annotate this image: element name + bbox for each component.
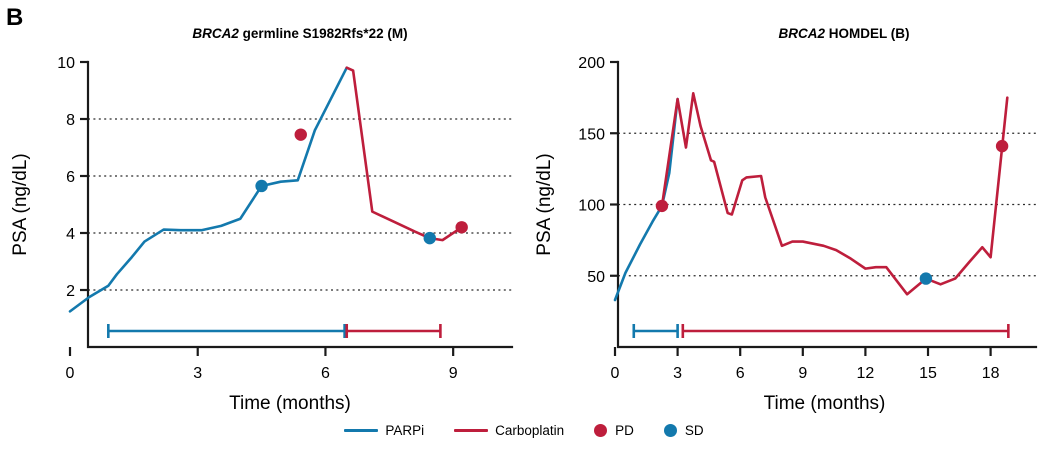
series-line-carboplatin bbox=[662, 93, 1007, 294]
x-tick-label: 6 bbox=[736, 365, 745, 382]
x-tick-label: 0 bbox=[66, 365, 75, 382]
marker-sd bbox=[424, 232, 436, 244]
y-tick-label: 200 bbox=[578, 55, 605, 72]
chart-title: BRCA2 germline S1982Rfs*22 (M) bbox=[192, 26, 407, 41]
y-axis-title: PSA (ng/dL) bbox=[534, 153, 555, 255]
x-tick-label: 18 bbox=[982, 365, 1000, 382]
legend-item-sd: SD bbox=[664, 424, 704, 438]
y-axis-title: PSA (ng/dL) bbox=[10, 153, 31, 255]
chart-brca2-homdel: BRCA2 HOMDEL (B)501001502000369121518Tim… bbox=[524, 0, 1048, 415]
y-tick-label: 50 bbox=[587, 269, 605, 286]
chart-svg-right: BRCA2 HOMDEL (B)501001502000369121518Tim… bbox=[524, 0, 1048, 415]
series-line-parpi bbox=[70, 68, 347, 312]
y-tick-label: 10 bbox=[57, 55, 75, 72]
x-tick-label: 3 bbox=[193, 365, 202, 382]
y-tick-label: 4 bbox=[66, 226, 75, 243]
x-tick-label: 3 bbox=[673, 365, 682, 382]
circle-marker-icon bbox=[594, 424, 607, 437]
marker-pd bbox=[295, 128, 307, 140]
line-swatch-icon bbox=[344, 429, 378, 432]
plot-axes bbox=[88, 62, 512, 347]
marker-sd bbox=[920, 272, 932, 284]
chart-svg-left: BRCA2 germline S1982Rfs*22 (M)2468100369… bbox=[0, 0, 524, 415]
legend-item-label: PD bbox=[615, 424, 634, 438]
x-axis-title: Time (months) bbox=[229, 393, 351, 414]
y-tick-label: 150 bbox=[578, 126, 605, 143]
legend-item-label: PARPi bbox=[385, 424, 424, 438]
legend-item-parpi: PARPi bbox=[344, 424, 424, 438]
chart-title-rest: germline S1982Rfs*22 (M) bbox=[239, 26, 408, 41]
legend-item-pd: PD bbox=[594, 424, 634, 438]
x-axis-title: Time (months) bbox=[764, 393, 886, 414]
x-tick-label: 15 bbox=[919, 365, 937, 382]
y-tick-label: 6 bbox=[66, 169, 75, 186]
chart-legend: PARPiCarboplatinPDSD bbox=[0, 424, 1048, 438]
legend-item-label: Carboplatin bbox=[495, 424, 564, 438]
legend-item-label: SD bbox=[685, 424, 704, 438]
y-tick-label: 2 bbox=[66, 283, 75, 300]
y-tick-label: 100 bbox=[578, 198, 605, 215]
x-tick-label: 0 bbox=[611, 365, 620, 382]
x-tick-label: 9 bbox=[798, 365, 807, 382]
x-tick-label: 6 bbox=[321, 365, 330, 382]
chart-title-rest: HOMDEL (B) bbox=[825, 26, 910, 41]
chart-brca2-germline: BRCA2 germline S1982Rfs*22 (M)2468100369… bbox=[0, 0, 524, 415]
figure-panel-b: B BRCA2 germline S1982Rfs*22 (M)24681003… bbox=[0, 0, 1048, 465]
legend-item-carboplatin: Carboplatin bbox=[454, 424, 564, 438]
x-tick-label: 12 bbox=[857, 365, 875, 382]
marker-sd bbox=[255, 180, 267, 192]
circle-marker-icon bbox=[664, 424, 677, 437]
marker-pd bbox=[656, 200, 668, 212]
y-tick-label: 8 bbox=[66, 112, 75, 129]
chart-title-gene: BRCA2 bbox=[778, 26, 825, 41]
x-tick-label: 9 bbox=[449, 365, 458, 382]
series-line-parpi bbox=[615, 99, 678, 300]
plot-axes bbox=[618, 62, 1036, 347]
marker-pd bbox=[455, 221, 467, 233]
chart-title-gene: BRCA2 bbox=[192, 26, 239, 41]
marker-pd bbox=[996, 140, 1008, 152]
chart-title: BRCA2 HOMDEL (B) bbox=[778, 26, 909, 41]
line-swatch-icon bbox=[454, 429, 488, 432]
series-line-carboplatin bbox=[347, 68, 462, 240]
